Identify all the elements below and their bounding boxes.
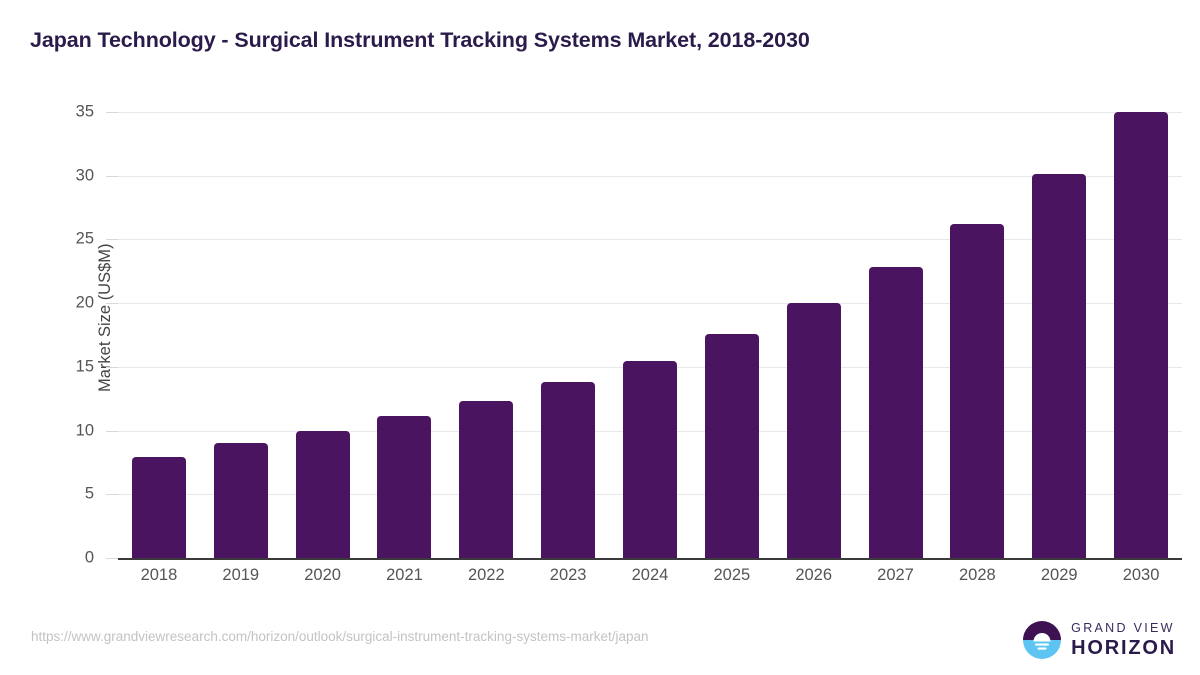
- x-tick-label-2018: 2018: [118, 566, 200, 585]
- y-tick-mark: [106, 239, 118, 240]
- source-url[interactable]: https://www.grandviewresearch.com/horizo…: [31, 629, 649, 644]
- bar-2028[interactable]: [950, 224, 1004, 558]
- x-axis-labels: 2018201920202021202220232024202520262027…: [118, 566, 1182, 585]
- x-tick-label-2030: 2030: [1100, 566, 1182, 585]
- y-tick-label: 30: [34, 166, 94, 185]
- bar-slot: [773, 112, 855, 558]
- y-tick-mark: [106, 303, 118, 304]
- bar-2024[interactable]: [623, 361, 677, 559]
- axis-baseline: [118, 558, 1182, 560]
- horizon-circle-logo-icon: [1022, 620, 1062, 660]
- brand-logo-text: GRAND VIEW HORIZON: [1071, 622, 1176, 658]
- x-tick-label-2027: 2027: [855, 566, 937, 585]
- x-tick-label-2021: 2021: [364, 566, 446, 585]
- chart-page: Japan Technology - Surgical Instrument T…: [0, 0, 1200, 675]
- brand-logo: GRAND VIEW HORIZON: [1022, 620, 1176, 660]
- bar-2023[interactable]: [541, 382, 595, 558]
- bar-2022[interactable]: [459, 401, 513, 558]
- page-title: Japan Technology - Surgical Instrument T…: [30, 28, 810, 53]
- bar-2029[interactable]: [1032, 174, 1086, 558]
- plot-area: Market Size (US$M) 05101520253035: [118, 112, 1182, 558]
- brand-logo-line1: GRAND VIEW: [1071, 622, 1176, 635]
- bar-slot: [855, 112, 937, 558]
- bar-2026[interactable]: [787, 303, 841, 558]
- y-tick-label: 15: [34, 357, 94, 376]
- y-tick-mark: [106, 558, 118, 559]
- y-tick-mark: [106, 112, 118, 113]
- x-tick-label-2023: 2023: [527, 566, 609, 585]
- bar-2025[interactable]: [705, 334, 759, 558]
- bar-2020[interactable]: [296, 431, 350, 558]
- x-tick-label-2024: 2024: [609, 566, 691, 585]
- bar-slot: [527, 112, 609, 558]
- x-tick-label-2028: 2028: [936, 566, 1018, 585]
- bar-2018[interactable]: [132, 457, 186, 558]
- bar-2021[interactable]: [377, 416, 431, 558]
- bar-slot: [282, 112, 364, 558]
- bar-slot: [445, 112, 527, 558]
- y-tick-mark: [106, 431, 118, 432]
- bar-2030[interactable]: [1114, 112, 1168, 558]
- y-tick-mark: [106, 494, 118, 495]
- bar-2027[interactable]: [869, 267, 923, 558]
- x-tick-label-2025: 2025: [691, 566, 773, 585]
- y-axis-title: Market Size (US$M): [96, 243, 115, 392]
- bar-slot: [1100, 112, 1182, 558]
- y-tick-mark: [106, 176, 118, 177]
- x-tick-label-2022: 2022: [445, 566, 527, 585]
- bar-slot: [609, 112, 691, 558]
- y-tick-label: 35: [34, 103, 94, 122]
- bar-slot: [200, 112, 282, 558]
- bar-slot: [691, 112, 773, 558]
- y-tick-label: 20: [34, 294, 94, 313]
- bar-2019[interactable]: [214, 443, 268, 558]
- y-tick-label: 25: [34, 230, 94, 249]
- bar-series: [118, 112, 1182, 558]
- x-tick-label-2019: 2019: [200, 566, 282, 585]
- bar-slot: [1018, 112, 1100, 558]
- x-tick-label-2020: 2020: [282, 566, 364, 585]
- y-tick-label: 0: [34, 549, 94, 568]
- x-tick-label-2026: 2026: [773, 566, 855, 585]
- bar-slot: [118, 112, 200, 558]
- brand-logo-line2: HORIZON: [1071, 638, 1176, 658]
- x-tick-label-2029: 2029: [1018, 566, 1100, 585]
- y-tick-mark: [106, 367, 118, 368]
- bar-slot: [936, 112, 1018, 558]
- bar-slot: [364, 112, 446, 558]
- y-tick-label: 10: [34, 421, 94, 440]
- y-tick-label: 5: [34, 485, 94, 504]
